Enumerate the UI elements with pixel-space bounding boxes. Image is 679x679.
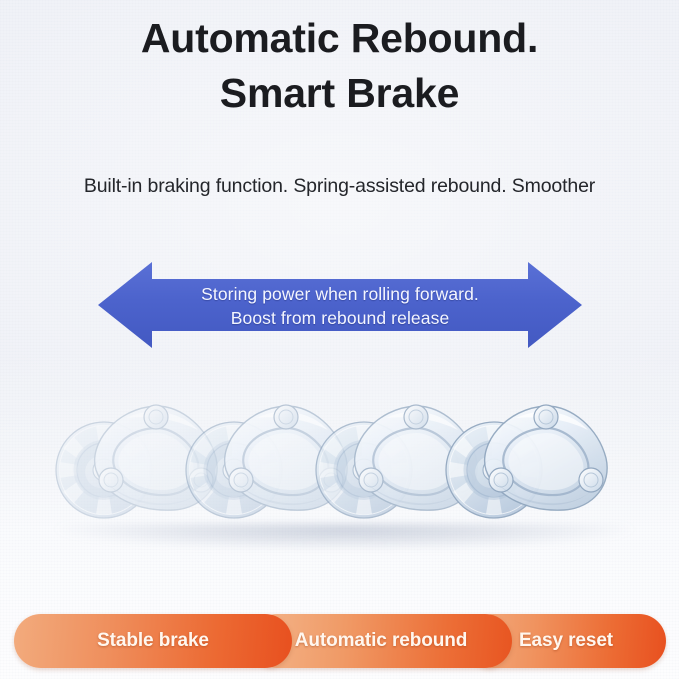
product-feature-poster: Automatic Rebound. Smart Brake Built-in … <box>0 0 679 679</box>
page-title: Automatic Rebound. Smart Brake <box>0 16 679 117</box>
title-line-2: Smart Brake <box>0 71 679 117</box>
feature-pill-label: Automatic rebound <box>295 630 467 652</box>
feature-pill-label: Stable brake <box>97 630 209 652</box>
feature-pill-label: Easy reset <box>519 630 613 652</box>
subtitle: Built-in braking function. Spring-assist… <box>0 175 679 198</box>
rebound-callout-banner: Storing power when rolling forward. Boos… <box>84 252 596 360</box>
double-arrow-icon <box>84 252 596 360</box>
title-line-1: Automatic Rebound. <box>0 16 679 62</box>
feature-pill-stable-brake[interactable]: Stable brake <box>14 614 292 668</box>
product-sequence <box>0 392 679 552</box>
feature-pill-bar: Stable brake Automatic rebound Easy rese… <box>0 600 679 679</box>
product-unit-4 <box>434 392 634 544</box>
